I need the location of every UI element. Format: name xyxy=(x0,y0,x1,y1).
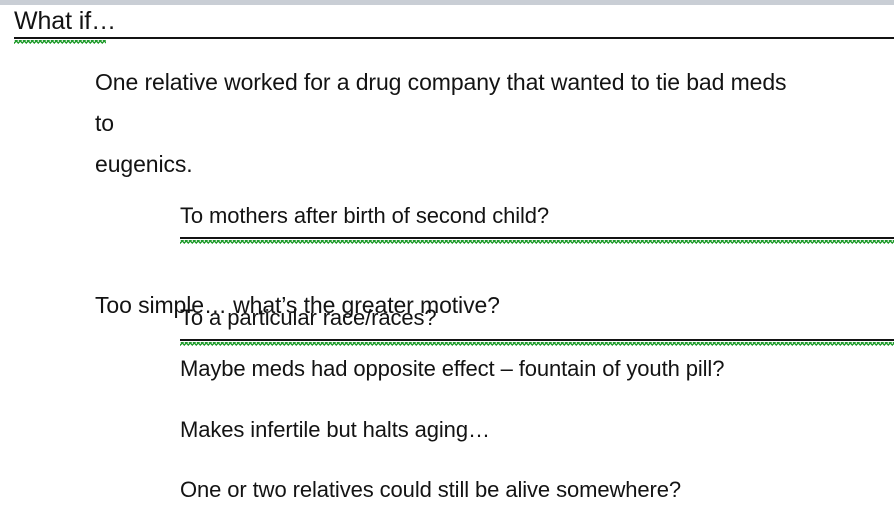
outline-item-3-grammar-squiggle xyxy=(180,342,894,346)
title-spelling-squiggle xyxy=(14,40,106,44)
slide-title[interactable]: What if… xyxy=(14,6,894,36)
outline-item-2-underline-rule xyxy=(180,237,894,239)
slide-canvas: What if… One relative worked for a drug … xyxy=(0,0,894,518)
outline-item-7-text: One or two relatives could still be aliv… xyxy=(180,477,681,502)
outline-item-4[interactable]: Too simple… what’s the greater motive? xyxy=(95,285,500,326)
window-top-edge-strip xyxy=(0,0,894,5)
outline-item-2[interactable]: To mothers after birth of second child? xyxy=(180,195,894,236)
outline-item-1-line-1: One relative worked for a drug company t… xyxy=(95,62,795,144)
outline-item-5-text: Maybe meds had opposite effect – fountai… xyxy=(180,356,724,381)
outline-item-6-text: Makes infertile but halts aging… xyxy=(180,417,490,442)
outline-item-6[interactable]: Makes infertile but halts aging… xyxy=(180,409,490,450)
slide-title-text: What if… xyxy=(14,7,116,35)
outline-item-1[interactable]: One relative worked for a drug company t… xyxy=(95,62,795,185)
outline-item-2-grammar-squiggle xyxy=(180,240,894,244)
title-underline-rule xyxy=(14,37,894,39)
outline-item-4-text: Too simple… what’s the greater motive? xyxy=(95,292,500,318)
outline-item-5[interactable]: Maybe meds had opposite effect – fountai… xyxy=(180,348,724,389)
outline-item-2-text: To mothers after birth of second child? xyxy=(180,203,549,228)
outline-item-1-line-2: eugenics. xyxy=(95,144,795,185)
outline-item-3-underline-rule xyxy=(180,339,894,341)
outline-item-7[interactable]: One or two relatives could still be aliv… xyxy=(180,469,681,510)
